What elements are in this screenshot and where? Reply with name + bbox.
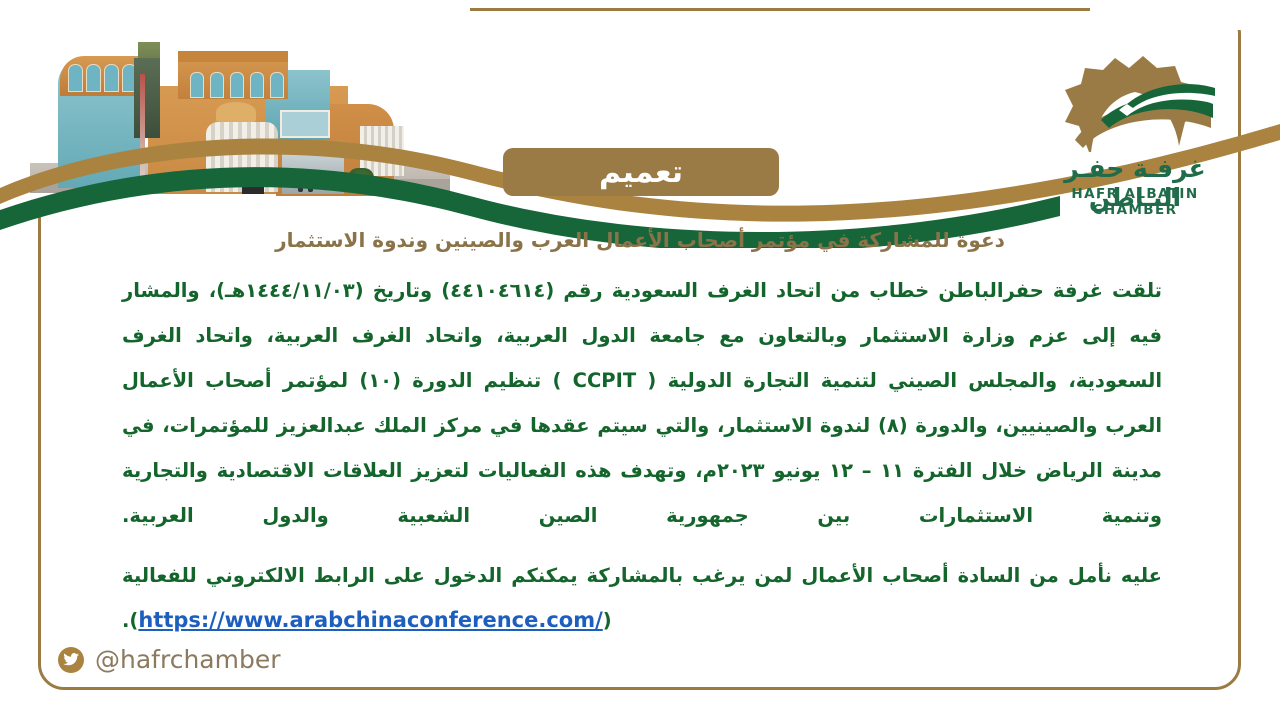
- photo-person: [308, 176, 313, 192]
- photo-arch-window: [230, 72, 244, 98]
- photo-flag-pole: [140, 74, 145, 182]
- link-open-paren: (: [603, 609, 612, 632]
- logo-english-name: HAFR ALBATIN CHAMBER: [1035, 186, 1235, 218]
- twitter-bird-glyph: [63, 653, 79, 667]
- photo-arch-window: [270, 72, 284, 98]
- event-link-line: (https://www.arabchinaconference.com/).: [122, 598, 1162, 643]
- logo-mark-icon: [1035, 48, 1235, 158]
- paragraph-1: تلقت غرفة حفرالباطن خطاب من اتحاد الغرف …: [122, 268, 1162, 538]
- event-link[interactable]: https://www.arabchinaconference.com/: [138, 608, 602, 632]
- page-title: دعوة للمشاركة في مؤتمر أصحاب الأعمال الع…: [120, 228, 1160, 252]
- photo-street-object: [242, 170, 264, 194]
- photo-arch-window: [68, 64, 83, 92]
- social-handle-text: @hafrchamber: [95, 645, 281, 674]
- building-illustration: [30, 18, 450, 193]
- frame-mask-bottom: [60, 700, 1220, 720]
- circular-title-badge: تعميم: [503, 148, 779, 196]
- photo-person: [298, 176, 303, 192]
- photo-arch-window: [210, 72, 224, 98]
- social-handle-group[interactable]: @hafrchamber: [58, 645, 281, 674]
- photo-entrance: [282, 148, 344, 194]
- photo-shrub: [348, 168, 374, 190]
- photo-wall-emblem: [216, 102, 256, 122]
- photo-mid-glass: [134, 58, 160, 138]
- photo-window: [280, 110, 330, 138]
- paragraph-2: عليه نأمل من السادة أصحاب الأعمال لمن ير…: [122, 553, 1162, 598]
- photo-arch-window: [104, 64, 119, 92]
- chamber-building-photo: [0, 0, 470, 200]
- announcement-body: تلقت غرفة حفرالباطن خطاب من اتحاد الغرف …: [122, 268, 1162, 643]
- photo-arch-window: [86, 64, 101, 92]
- twitter-icon[interactable]: [58, 647, 84, 673]
- photo-facade-sign-band: [178, 51, 288, 62]
- announcement-page: تعميم غرفـة حفـر البـاطن HAFR ALBATIN CH…: [0, 0, 1280, 720]
- photo-arch-window: [190, 72, 204, 98]
- photo-arch-window: [250, 72, 264, 98]
- circular-title-text: تعميم: [599, 155, 683, 190]
- frame-mask-top-right: [1090, 0, 1280, 30]
- paragraph-spacer: [122, 538, 1162, 553]
- chamber-logo: غرفـة حفـر البـاطن HAFR ALBATIN CHAMBER: [1035, 48, 1235, 208]
- link-close-paren: ).: [122, 609, 138, 632]
